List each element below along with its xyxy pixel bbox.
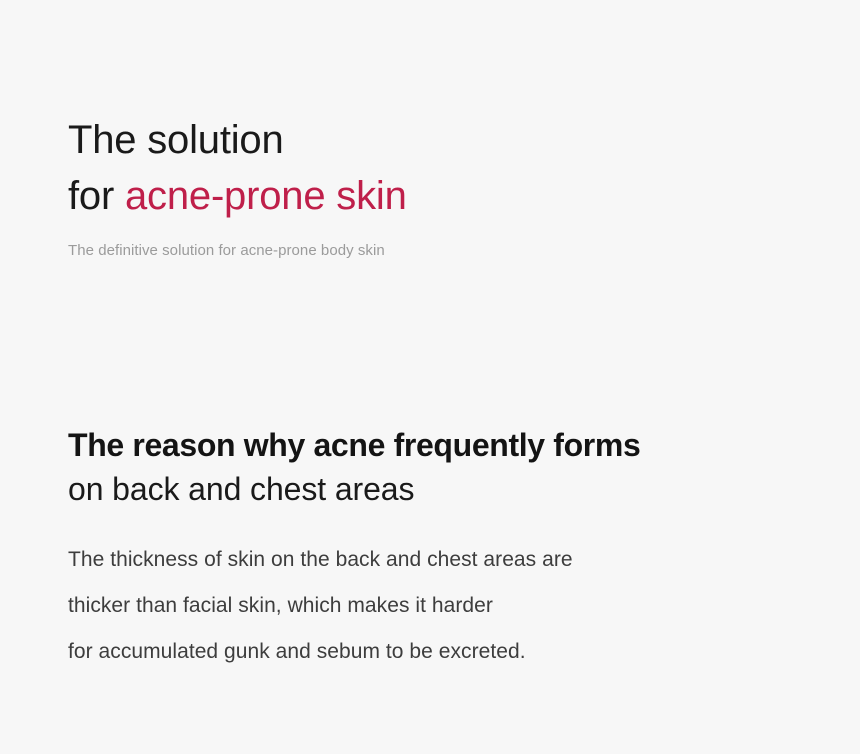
reason-body-line: thicker than facial skin, which makes it… [68, 583, 838, 629]
hero-section: The solution for acne-prone skin The def… [68, 112, 828, 261]
reason-body-line: for accumulated gunk and sebum to be exc… [68, 629, 838, 675]
hero-title-accent: acne-prone skin [125, 174, 407, 218]
hero-title-prefix: for [68, 174, 125, 218]
reason-section: The reason why acne frequently forms on … [68, 423, 838, 675]
hero-title-line-2: for acne-prone skin [68, 168, 828, 224]
hero-subtitle: The definitive solution for acne-prone b… [68, 241, 828, 261]
product-info-page: The solution for acne-prone skin The def… [0, 0, 860, 754]
reason-heading-bold: The reason why acne frequently forms [68, 423, 838, 467]
reason-body-line: The thickness of skin on the back and ch… [68, 537, 838, 583]
hero-title-line-1: The solution [68, 112, 828, 168]
reason-heading-regular: on back and chest areas [68, 467, 838, 511]
reason-body-paragraph: The thickness of skin on the back and ch… [68, 537, 838, 675]
